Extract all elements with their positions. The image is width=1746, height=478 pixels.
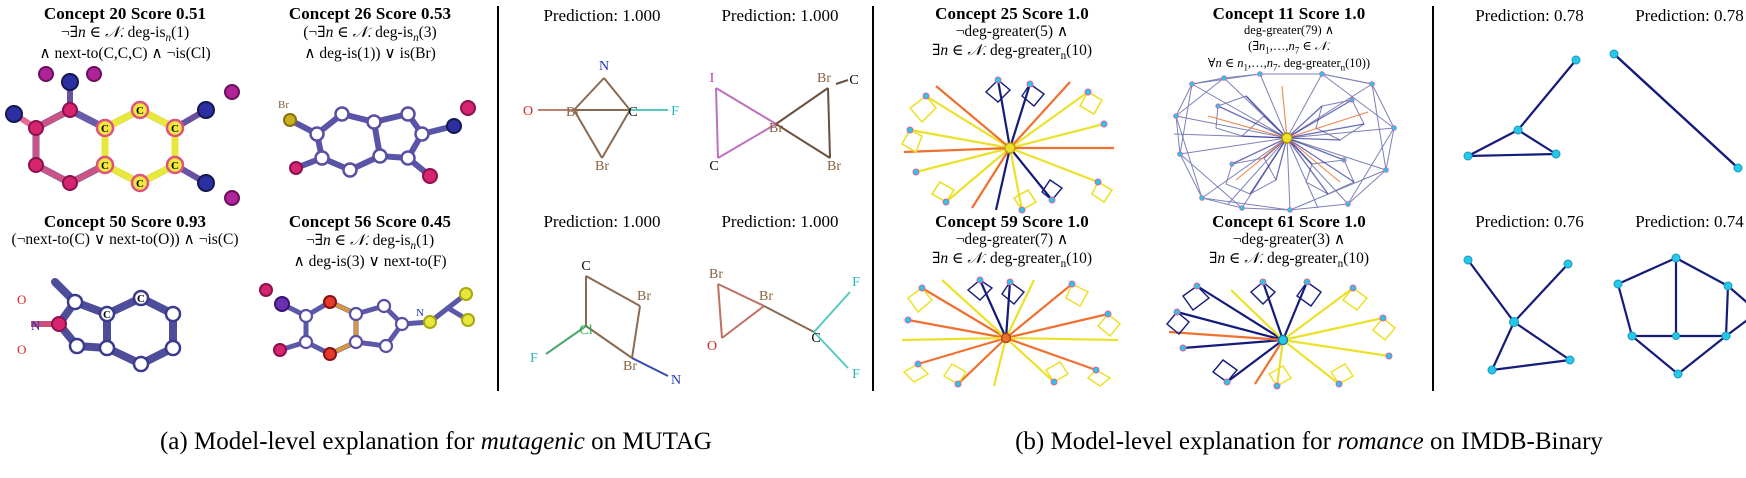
svg-text:Br: Br [637, 289, 651, 304]
svg-text:O: O [707, 339, 717, 354]
prediction-label: Prediction: 0.74 [1607, 212, 1746, 232]
svg-text:Br: Br [759, 289, 773, 304]
svg-text:C: C [171, 123, 179, 135]
svg-text:C: C [137, 293, 145, 305]
concept-cell-59: Concept 59 Score 1.0 ¬deg-greater(7) ∧ ∃… [877, 212, 1147, 272]
caption-a-emph: mutagenic [481, 428, 585, 455]
concept-title: Concept 61 Score 1.0 [1144, 212, 1434, 231]
prediction-label: Prediction: 1.000 [512, 6, 692, 26]
svg-text:F: F [852, 367, 860, 382]
molecule-graph-pred-a1: N O Br C F Br [512, 40, 692, 190]
concept-cell-25: Concept 25 Score 1.0 ¬deg-greater(5) ∧ ∃… [877, 4, 1147, 64]
caption-a-prefix: (a) Model-level explanation for [160, 428, 481, 455]
panel-mutag: Concept 20 Score 0.51 ¬∃n ∈ 𝒩. deg-isn(1… [0, 0, 872, 415]
imdb-svg [1172, 72, 1402, 212]
caption-b-prefix: (b) Model-level explanation for [1015, 428, 1337, 455]
molecule-svg: Br [262, 72, 492, 202]
imdb-svg [902, 278, 1122, 388]
prediction-label: Prediction: 0.78 [1447, 6, 1612, 26]
molecule-graph-pred-a3: C Cl Br Br F N [512, 248, 692, 398]
concept-title: Concept 56 Score 0.45 [245, 212, 495, 231]
prediction-cell-b1: Prediction: 0.78 [1447, 6, 1612, 26]
molecule-graph-concept-26: Br [262, 72, 492, 202]
svg-text:N: N [671, 373, 681, 388]
figure-root: Concept 20 Score 0.51 ¬∃n ∈ 𝒩. deg-isn(1… [0, 0, 1746, 478]
svg-text:C: C [136, 105, 144, 117]
concept-formula-line-2: ∃n ∈ 𝒩. deg-greatern(10) [1144, 249, 1434, 271]
concept-formula-line-1: (¬∃n ∈ 𝒩. deg-isn(3) [245, 23, 495, 45]
prediction-label: Prediction: 1.000 [690, 6, 870, 26]
svg-text:C: C [709, 159, 718, 174]
svg-text:C: C [849, 73, 858, 88]
concept-cell-26: Concept 26 Score 0.53 (¬∃n ∈ 𝒩. deg-isn(… [245, 4, 495, 64]
imdb-svg [902, 78, 1122, 213]
prediction-label: Prediction: 0.76 [1447, 212, 1612, 232]
svg-text:O: O [523, 104, 533, 119]
panel-imdb: Concept 25 Score 1.0 ¬deg-greater(5) ∧ ∃… [872, 0, 1746, 415]
imdb-graph-concept-61 [1167, 278, 1397, 388]
prediction-cell-b4: Prediction: 0.74 [1607, 212, 1746, 232]
prediction-label: Prediction: 0.78 [1607, 6, 1746, 26]
prediction-cell-b2: Prediction: 0.78 [1607, 6, 1746, 26]
molecule-svg: Br O Br C F F [688, 248, 868, 398]
molecule-svg: I C Br Br C Br [688, 40, 868, 190]
concept-title: Concept 59 Score 1.0 [877, 212, 1147, 231]
molecule-svg: CCC CCC [10, 70, 250, 210]
panel-divider-b [1432, 6, 1434, 391]
svg-text:N: N [416, 307, 424, 319]
caption-b-emph: romance [1337, 428, 1424, 455]
imdb-svg [1600, 44, 1746, 184]
caption-panel-a: (a) Model-level explanation for mutageni… [0, 428, 872, 456]
svg-text:F: F [530, 351, 538, 366]
imdb-svg [1600, 250, 1746, 385]
imdb-graph-concept-59 [902, 278, 1122, 388]
concept-formula-line-1: deg-greater(79) ∧ [1144, 23, 1434, 38]
panel-divider-a [497, 6, 499, 391]
concept-formula-line-2: ∧ deg-is(3) ∨ next-to(F) [245, 253, 495, 271]
svg-text:F: F [852, 275, 860, 290]
concept-formula-line-2: ∃n ∈ 𝒩. deg-greatern(10) [877, 41, 1147, 63]
caption-b-suffix: on IMDB-Binary [1424, 428, 1603, 455]
prediction-cell-a1: Prediction: 1.000 [512, 6, 692, 26]
caption-panel-b: (b) Model-level explanation for romance … [872, 428, 1746, 456]
atom-nodes [6, 67, 239, 205]
concept-formula-line-1: ¬∃n ∈ 𝒩. deg-isn(1) [0, 23, 250, 45]
svg-text:C: C [628, 105, 637, 120]
svg-text:Br: Br [769, 121, 783, 136]
svg-text:Br: Br [595, 159, 609, 174]
atom-nodes [52, 291, 180, 371]
concept-cell-11: Concept 11 Score 1.0 deg-greater(79) ∧ (… [1144, 4, 1434, 74]
molecule-graph-concept-50: CC O O N [15, 262, 250, 377]
molecule-graph-pred-a4: Br O Br C F F [688, 248, 868, 398]
svg-text:I: I [710, 71, 715, 86]
imdb-graph-concept-25 [902, 78, 1122, 213]
concept-title: Concept 26 Score 0.53 [245, 4, 495, 23]
concept-formula-line-1: ¬∃n ∈ 𝒩. deg-isn(1) [245, 231, 495, 253]
concept-title: Concept 25 Score 1.0 [877, 4, 1147, 23]
concept-formula-line-1: ¬deg-greater(7) ∧ [877, 231, 1147, 249]
concept-cell-61: Concept 61 Score 1.0 ¬deg-greater(3) ∧ ∃… [1144, 212, 1434, 272]
svg-text:Br: Br [278, 99, 289, 111]
concept-formula-line-2: (∃n1,…,n7 ∈ 𝒩. [1144, 38, 1434, 56]
svg-text:Br: Br [827, 159, 841, 174]
molecule-svg: C Cl Br Br F N [512, 248, 692, 398]
concept-formula-line-1: ¬deg-greater(3) ∧ [1144, 231, 1434, 249]
prediction-cell-a3: Prediction: 1.000 [512, 212, 692, 232]
imdb-svg [1167, 278, 1397, 388]
imdb-svg [1452, 44, 1612, 184]
concept-formula-line-1: ¬deg-greater(5) ∧ [877, 23, 1147, 41]
svg-text:N: N [31, 318, 41, 333]
svg-text:C: C [581, 259, 590, 274]
svg-text:O: O [17, 292, 26, 307]
prediction-label: Prediction: 1.000 [690, 212, 870, 232]
svg-text:O: O [17, 342, 26, 357]
svg-text:Br: Br [709, 267, 723, 282]
imdb-graph-pred-b3 [1452, 250, 1612, 385]
prediction-label: Prediction: 1.000 [512, 212, 692, 232]
imdb-svg [1452, 250, 1612, 385]
concept-formula-line-1: (¬next-to(C) ∨ next-to(O)) ∧ ¬is(C) [0, 231, 250, 249]
concept-title: Concept 11 Score 1.0 [1144, 4, 1434, 23]
svg-text:N: N [599, 59, 609, 74]
concept-cell-50: Concept 50 Score 0.93 (¬next-to(C) ∨ nex… [0, 212, 250, 249]
prediction-cell-a2: Prediction: 1.000 [690, 6, 870, 26]
molecule-graph-pred-a2: I C Br Br C Br [688, 40, 868, 190]
molecule-graph-concept-20: CCC CCC [10, 70, 250, 210]
imdb-graph-pred-b1 [1452, 44, 1612, 184]
imdb-graph-pred-b4 [1600, 250, 1746, 385]
concept-title: Concept 20 Score 0.51 [0, 4, 250, 23]
imdb-graph-concept-11 [1172, 72, 1402, 212]
concept-cell-20: Concept 20 Score 0.51 ¬∃n ∈ 𝒩. deg-isn(1… [0, 4, 250, 64]
molecule-graph-concept-56: N [252, 272, 492, 382]
molecule-svg: CC O O N [15, 262, 250, 377]
svg-text:C: C [103, 309, 111, 321]
svg-text:F: F [671, 104, 679, 119]
svg-text:C: C [101, 123, 109, 135]
caption-a-suffix: on MUTAG [585, 428, 712, 455]
molecule-svg: N O Br C F Br [512, 40, 692, 190]
svg-text:Br: Br [817, 71, 831, 86]
concept-cell-56: Concept 56 Score 0.45 ¬∃n ∈ 𝒩. deg-isn(1… [245, 212, 495, 272]
imdb-graph-pred-b2 [1600, 44, 1746, 184]
concept-formula-line-2: ∧ deg-is(1)) ∨ is(Br) [245, 45, 495, 63]
svg-text:C: C [101, 160, 109, 172]
svg-text:Br: Br [566, 105, 580, 120]
prediction-cell-b3: Prediction: 0.76 [1447, 212, 1612, 232]
svg-text:C: C [811, 331, 820, 346]
concept-formula-line-2: ∃n ∈ 𝒩. deg-greatern(10) [877, 249, 1147, 271]
molecule-svg: N [252, 272, 492, 382]
svg-text:Cl: Cl [579, 323, 592, 338]
prediction-cell-a4: Prediction: 1.000 [690, 212, 870, 232]
svg-text:Br: Br [623, 359, 637, 374]
svg-text:C: C [171, 160, 179, 172]
concept-title: Concept 50 Score 0.93 [0, 212, 250, 231]
concept-formula-line-2: ∧ next-to(C,C,C) ∧ ¬is(Cl) [0, 45, 250, 63]
svg-text:C: C [136, 178, 144, 190]
